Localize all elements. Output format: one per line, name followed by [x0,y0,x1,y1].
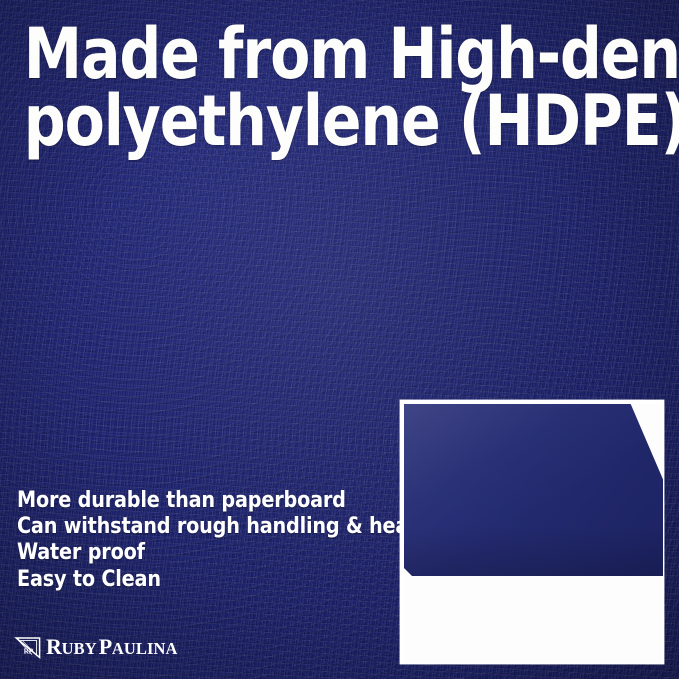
brand-name-aulina: AULINA [112,639,178,658]
headline-line-2: polyethylene (HDPE) [24,88,655,155]
ruby-paulina-sail-icon: RP [14,636,42,660]
brand-logo: RP RUBYPAULINA [14,636,178,660]
brand-name: RUBYPAULINA [46,636,178,660]
brand-name-p: P [99,634,112,659]
headline-line-1: Made from High-density [24,21,655,88]
product-hdpe-panel [404,404,663,576]
product-photo-white-background [404,404,663,663]
product-feature-card: Made from High-density polyethylene (HDP… [0,0,679,679]
brand-name-uby: UBY [62,639,97,658]
headline: Made from High-density polyethylene (HDP… [24,21,655,155]
product-photo-inset [400,400,664,664]
brand-name-r: R [46,634,62,659]
brand-mark-initials: RP [24,647,34,655]
